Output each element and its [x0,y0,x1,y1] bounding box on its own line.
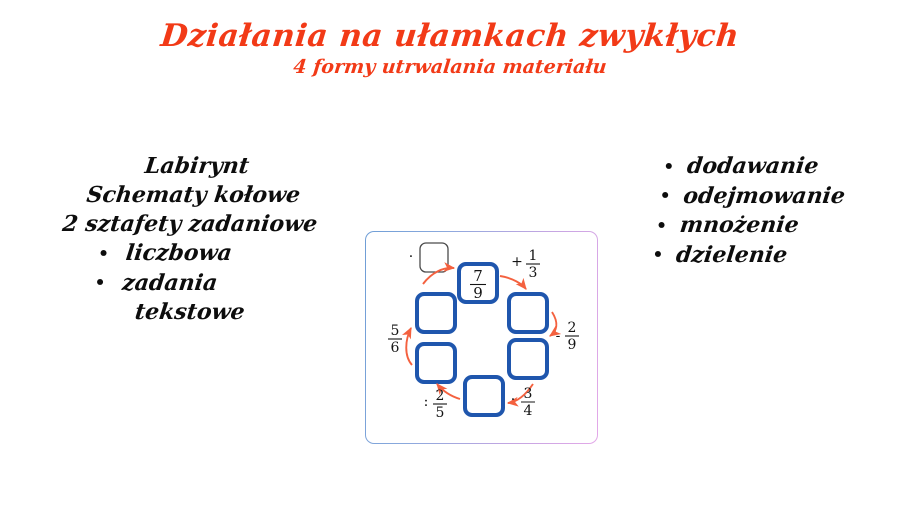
bullet-icon: • [663,153,679,182]
left-list-label-0: Labirynt [143,153,250,179]
page-title: Działania na ułamkach zwykłych [0,18,900,54]
maze-operation-divide-denominator: 5 [436,405,445,421]
maze-box-left-upper[interactable] [417,294,455,332]
list-item: • mnożenie [654,211,898,241]
maze-operation-subtract-numerator: 2 [568,320,577,336]
operation-label-division: dzielenie [675,242,789,268]
maze-operation-multiply-numerator: 3 [524,386,533,402]
maze-box-left-lower[interactable] [417,344,455,382]
bullet-icon: • [95,269,115,298]
maze-operation-subtract-operator: - [556,328,561,344]
left-list-label-4: zadania [121,270,219,296]
list-item: Schematy kołowe [42,181,346,210]
maze-operation-subtract-denominator: 9 [568,337,577,353]
maze-operation-divide: : 2 5 [424,388,447,421]
start-dot: · [409,249,413,265]
fraction-maze-frame: · 7 9 [365,231,598,444]
maze-operation-add-numerator: 1 [529,248,538,264]
maze-operation-divide-operator: : [424,394,429,410]
left-list-label-2: 2 sztafety zadaniowe [61,211,319,237]
bullet-icon: • [656,212,672,241]
maze-operation-add-denominator: 3 [529,265,538,281]
maze-operation-add-operator: + [511,254,523,270]
operation-label-multiplication: mnożenie [678,212,800,238]
maze-operation-divide-numerator: 2 [436,388,445,404]
maze-box-right-upper[interactable] [509,294,547,332]
maze-box-top-numerator: 7 [473,267,483,285]
bullet-icon: • [98,240,118,269]
list-item: • odejmowanie [658,182,900,212]
bullet-icon: • [660,182,676,211]
list-item: Labirynt [45,152,349,181]
operation-label-addition: dodawanie [686,153,820,179]
left-list-label-3: liczbowa [124,240,233,266]
list-item: • liczbowa [34,239,338,269]
maze-operation-left-denominator: 6 [391,340,400,356]
maze-operation-multiply-operator: · [511,392,515,408]
list-item: • dzielenie [651,241,895,271]
maze-box-right-lower[interactable] [509,340,547,378]
left-list-label-5: tekstowe [134,299,247,325]
list-item: tekstowe [27,298,331,327]
operations-list: • dodawanie • odejmowanie • mnożenie • d… [651,152,900,270]
maze-operation-subtract: - 2 9 [556,320,579,353]
maze-box-top-denominator: 9 [473,284,483,302]
list-item: • zadania [31,269,335,299]
fraction-maze-canvas: · 7 9 [366,232,597,443]
maze-operation-multiply: · 3 4 [511,386,535,419]
page-subtitle: 4 formy utrwalania materiału [0,56,900,78]
operation-label-subtraction: odejmowanie [682,183,847,209]
list-item: • dodawanie [662,152,900,182]
list-item: 2 sztafety zadaniowe [38,210,342,239]
left-activity-list: Labirynt Schematy kołowe 2 sztafety zada… [27,152,348,327]
maze-arrow-top-to-right-upper [500,276,526,289]
left-list-label-1: Schematy kołowe [85,182,302,208]
maze-operation-add: + 1 3 [511,248,540,281]
maze-arrow-left-lower-to-left-upper [406,328,412,365]
bullet-icon: • [653,241,669,270]
maze-operation-left: 5 6 [388,323,402,356]
maze-operation-multiply-denominator: 4 [524,403,533,419]
maze-box-bottom[interactable] [465,377,503,415]
maze-operation-left-numerator: 5 [391,323,400,339]
maze-box-start[interactable] [420,243,448,272]
